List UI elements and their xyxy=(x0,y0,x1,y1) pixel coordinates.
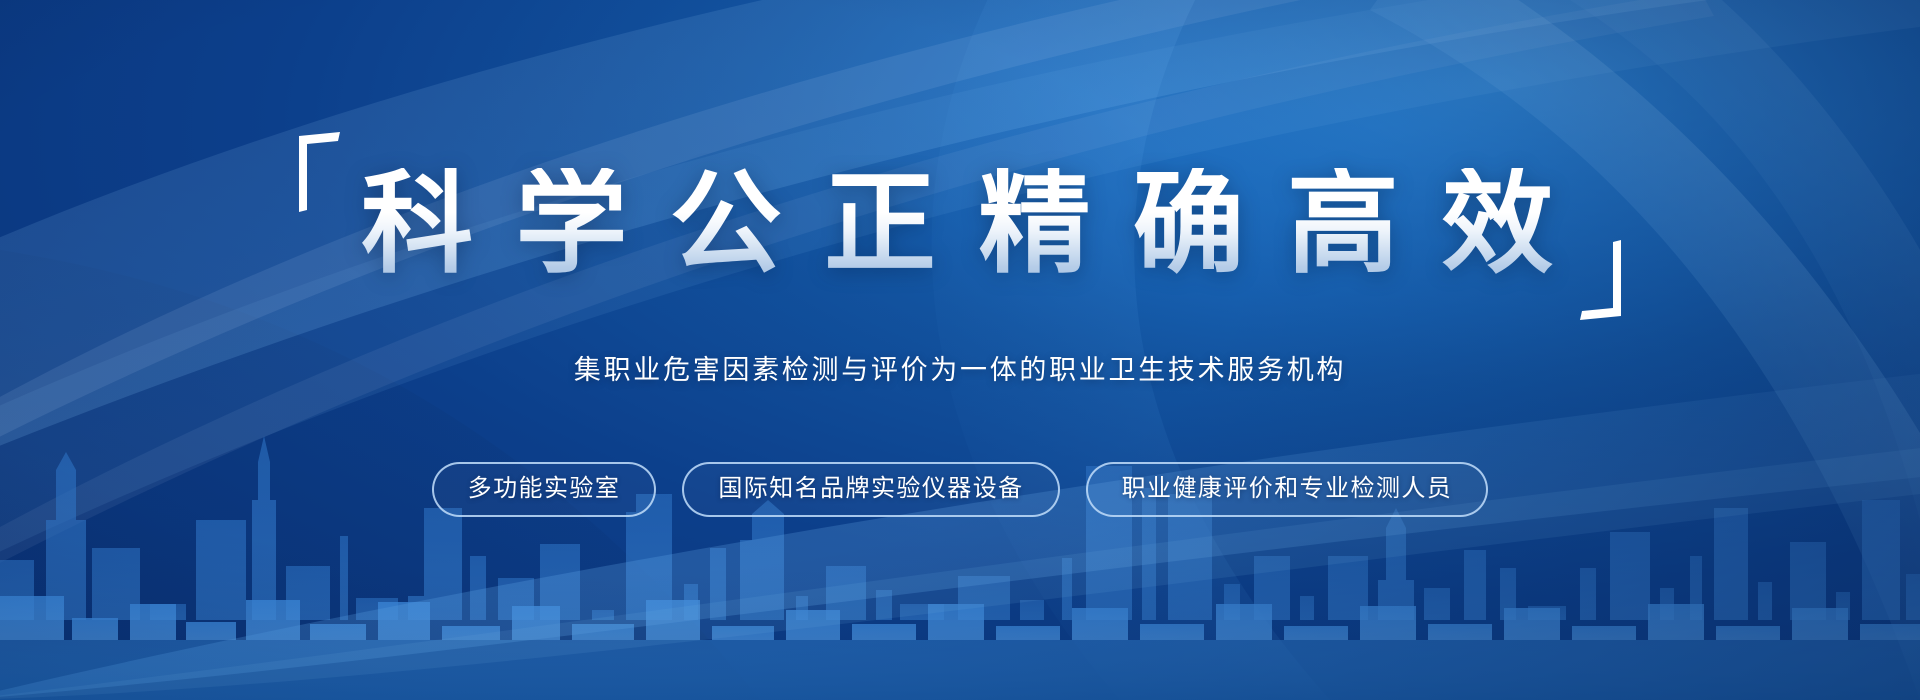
subtitle: 集职业危害因素检测与评价为一体的职业卫生技术服务机构 xyxy=(0,348,1920,387)
bracket-open-icon xyxy=(297,132,341,214)
headline: 科 学 公 正 精 确 高 效 xyxy=(291,168,1629,280)
hero-banner: 科 学 公 正 精 确 高 效 集职业危害因素检测与评价为一体的职业卫生技术服务… xyxy=(0,0,1920,700)
headline-text: 科 学 公 正 精 确 高 效 xyxy=(361,168,1559,280)
headline-block: 科 学 公 正 精 确 高 效 xyxy=(0,168,1920,280)
banner-content: 科 学 公 正 精 确 高 效 集职业危害因素检测与评价为一体的职业卫生技术服务… xyxy=(0,0,1920,700)
feature-pill-personnel[interactable]: 职业健康评价和专业检测人员 xyxy=(1086,462,1489,517)
bracket-close-icon xyxy=(1579,238,1623,320)
feature-pill-lab[interactable]: 多功能实验室 xyxy=(432,462,657,517)
feature-pill-list: 多功能实验室 国际知名品牌实验仪器设备 职业健康评价和专业检测人员 xyxy=(0,462,1920,517)
feature-pill-equipment[interactable]: 国际知名品牌实验仪器设备 xyxy=(682,462,1059,517)
